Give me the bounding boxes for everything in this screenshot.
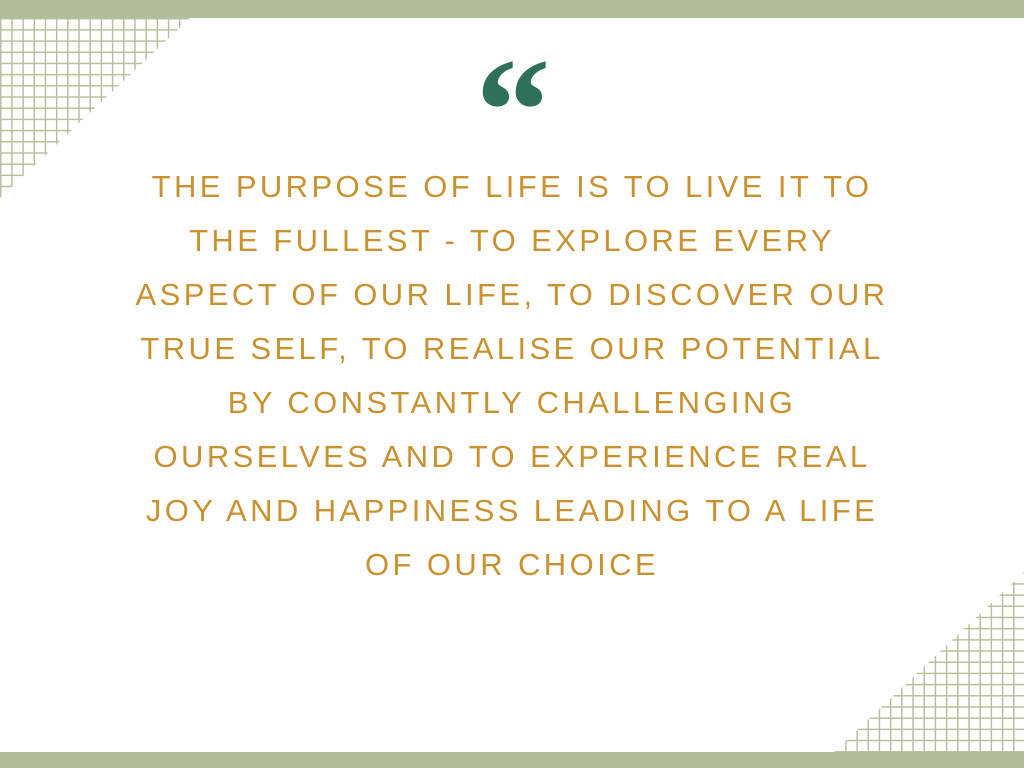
quote-line: OURSELVES AND TO EXPERIENCE REAL bbox=[52, 430, 972, 484]
bottom-accent-band bbox=[0, 752, 1024, 768]
quote-line: JOY AND HAPPINESS LEADING TO A LIFE bbox=[52, 484, 972, 538]
quote-line: ASPECT OF OUR LIFE, TO DISCOVER OUR bbox=[52, 268, 972, 322]
top-accent-band bbox=[0, 0, 1024, 18]
bottom-right-grid-pattern bbox=[834, 572, 1024, 752]
quote-text-block: THE PURPOSE OF LIFE IS TO LIVE IT TO THE… bbox=[52, 160, 972, 592]
quote-slide: “ THE PURPOSE OF LIFE IS TO LIVE IT TO T… bbox=[0, 0, 1024, 768]
quote-line: THE FULLEST - TO EXPLORE EVERY bbox=[52, 214, 972, 268]
quote-line: BY CONSTANTLY CHALLENGING bbox=[52, 376, 972, 430]
quote-line: OF OUR CHOICE bbox=[52, 538, 972, 592]
quote-line: THE PURPOSE OF LIFE IS TO LIVE IT TO bbox=[52, 160, 972, 214]
quote-line: TRUE SELF, TO REALISE OUR POTENTIAL bbox=[52, 322, 972, 376]
